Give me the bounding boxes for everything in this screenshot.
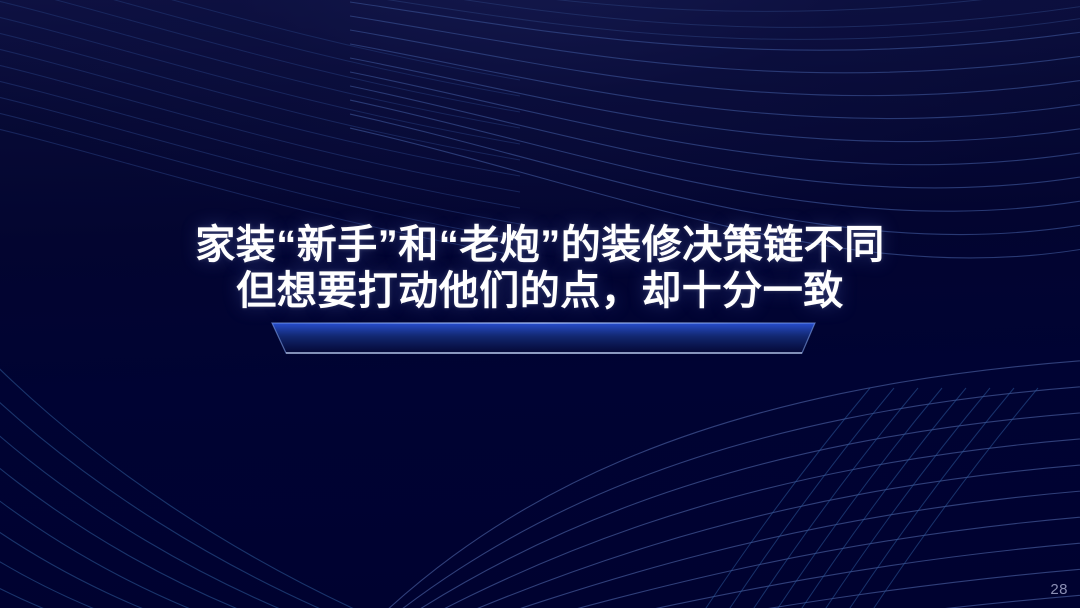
headline-line-2: 但想要打动他们的点，却十分一致 xyxy=(0,268,1080,314)
wave-lines-bottom-right-fan xyxy=(620,328,1040,608)
presentation-slide: 家装“新手”和“老炮”的装修决策链不同 但想要打动他们的点，却十分一致 xyxy=(0,0,1080,608)
page-number: 28 xyxy=(1050,581,1068,598)
headline-line-1: 家装“新手”和“老炮”的装修决策链不同 xyxy=(0,222,1080,268)
page-title: 家装“新手”和“老炮”的装修决策链不同 但想要打动他们的点，却十分一致 xyxy=(0,222,1080,314)
decorative-trapezoid-banner xyxy=(262,322,822,356)
